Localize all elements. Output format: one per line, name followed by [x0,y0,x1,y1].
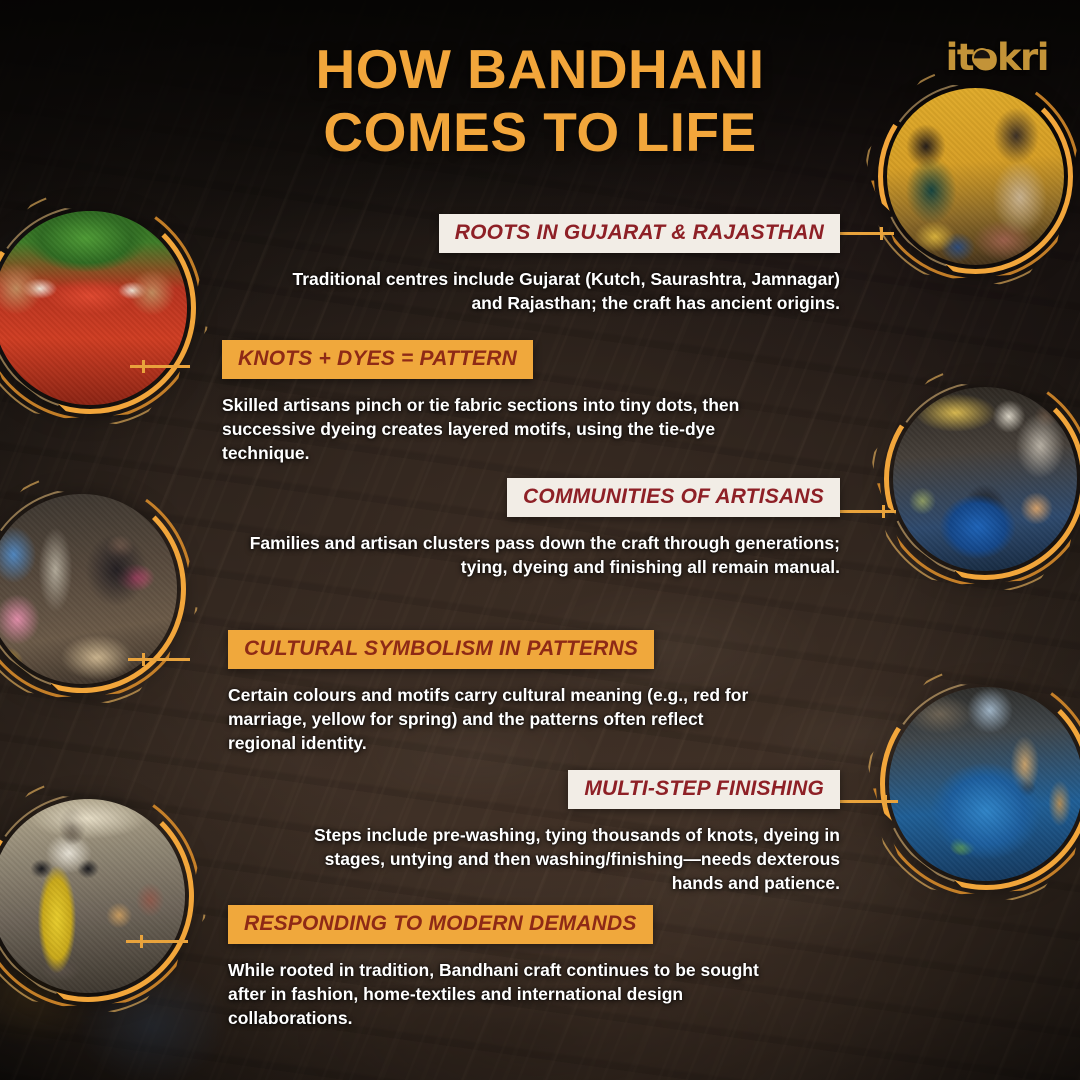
section-body-6: While rooted in tradition, Bandhani craf… [228,958,783,1030]
logo-text-after: kri [997,36,1048,79]
section-multi-step-finishing: MULTI-STEP FINISHING Steps include pre-w… [300,770,840,895]
page-title-line-2: COMES TO LIFE [0,101,1080,164]
logo-text-before: it [946,36,973,79]
connector-tick [882,505,885,518]
photo-circle-hands-knotting-red-fabric [0,202,196,414]
photo-circle-artisan-women-cluster-tying [0,485,186,693]
section-heading-6: RESPONDING TO MODERN DEMANDS [228,905,653,944]
page-title-line-1: HOW BANDHANI [315,38,764,100]
section-heading-1: ROOTS IN GUJARAT & RAJASTHAN [439,214,840,253]
itokri-logo[interactable]: itokri [946,39,1048,76]
section-communities-of-artisans: COMMUNITIES OF ARTISANS Families and art… [240,478,840,579]
photo-circle-dyer-working-blue-dye-tub [884,378,1080,580]
connector-tick [142,360,145,373]
logo-half-circle-icon [972,48,992,68]
section-body-5: Steps include pre-washing, tying thousan… [300,823,840,895]
connector-tick [140,935,143,948]
section-body-1: Traditional centres include Gujarat (Kut… [280,267,840,315]
section-cultural-symbolism-in-patterns: CULTURAL SYMBOLISM IN PATTERNS Certain c… [228,630,773,755]
connector-line-section-1 [836,232,894,235]
connector-tick [884,795,887,808]
section-heading-4: CULTURAL SYMBOLISM IN PATTERNS [228,630,654,669]
section-heading-5: MULTI-STEP FINISHING [568,770,840,809]
connector-line-section-4 [128,658,190,661]
page-title: HOW BANDHANI COMES TO LIFE [0,38,1080,163]
section-body-4: Certain colours and motifs carry cultura… [228,683,773,755]
connector-line-section-2 [130,365,190,368]
connector-line-section-5 [840,800,898,803]
section-heading-3: COMMUNITIES OF ARTISANS [507,478,840,517]
section-roots-in-gujarat-rajasthan: ROOTS IN GUJARAT & RAJASTHAN Traditional… [280,214,840,315]
photo-circle-hands-in-indigo-dye-vat [880,678,1080,890]
section-body-2: Skilled artisans pinch or tie fabric sec… [222,393,762,465]
section-heading-2: KNOTS + DYES = PATTERN [222,340,533,379]
photo-circle-artisan-lifting-yellow-dyed-fabric [0,790,194,1002]
connector-line-section-6 [126,940,188,943]
logo-o-glyph: o [973,39,997,76]
section-body-3: Families and artisan clusters pass down … [240,531,840,579]
connector-tick [142,653,145,666]
section-knots-dyes-pattern: KNOTS + DYES = PATTERN Skilled artisans … [222,340,762,465]
connector-tick [880,227,883,240]
connector-line-section-3 [840,510,896,513]
section-responding-to-modern-demands: RESPONDING TO MODERN DEMANDS While roote… [228,905,783,1030]
